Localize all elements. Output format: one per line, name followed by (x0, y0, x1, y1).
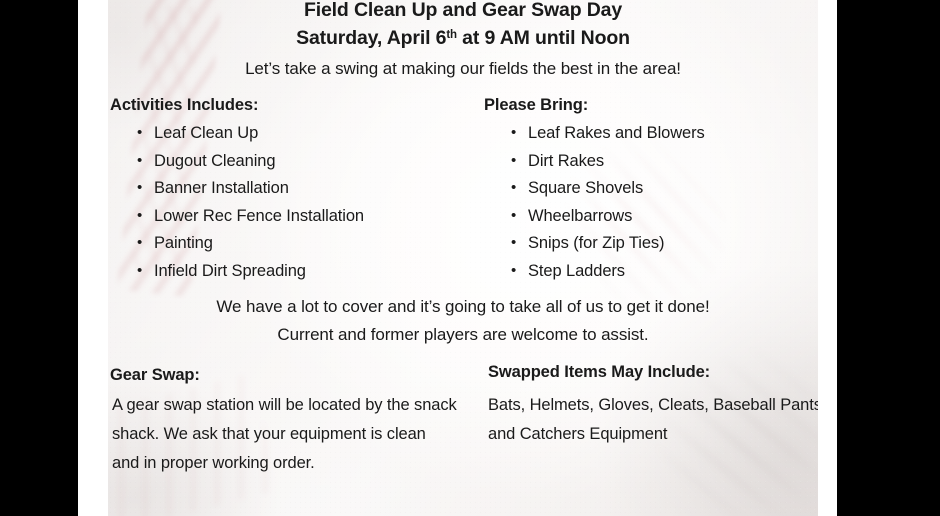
flyer-content: Field Clean Up and Gear Swap Day Saturda… (108, 0, 818, 516)
mid-note-line-2: Current and former players are welcome t… (108, 325, 818, 345)
list-item: Infield Dirt Spreading (154, 258, 364, 286)
list-item: Leaf Clean Up (154, 120, 364, 148)
list-item: Dirt Rakes (528, 148, 705, 176)
please-bring-list: Leaf Rakes and Blowers Dirt Rakes Square… (484, 120, 705, 285)
list-item: Painting (154, 230, 364, 258)
mid-note-line-1: We have a lot to cover and it’s going to… (108, 297, 818, 317)
please-bring-heading: Please Bring: (484, 96, 588, 115)
gear-swap-heading: Gear Swap: (110, 366, 200, 385)
list-item: Wheelbarrows (528, 203, 705, 231)
list-item: Snips (for Zip Ties) (528, 230, 705, 258)
gear-swap-body: A gear swap station will be located by t… (112, 391, 457, 478)
activities-list: Leaf Clean Up Dugout Cleaning Banner Ins… (110, 120, 364, 285)
date-prefix: Saturday, April 6 (296, 27, 446, 49)
swapped-items-heading: Swapped Items May Include: (488, 363, 710, 382)
list-item: Lower Rec Fence Installation (154, 203, 364, 231)
date-suffix: at 9 AM until Noon (457, 27, 630, 49)
letterbox-margin-right (818, 0, 837, 516)
list-item: Step Ladders (528, 258, 705, 286)
list-item: Dugout Cleaning (154, 148, 364, 176)
swapped-items-body: Bats, Helmets, Gloves, Cleats, Baseball … (488, 391, 818, 449)
activities-heading: Activities Includes: (110, 96, 258, 115)
list-item: Leaf Rakes and Blowers (528, 120, 705, 148)
flyer-canvas: Field Clean Up and Gear Swap Day Saturda… (108, 0, 818, 516)
list-item: Banner Installation (154, 175, 364, 203)
flyer-title: Field Clean Up and Gear Swap Day (108, 0, 818, 22)
flyer-date-time: Saturday, April 6th at 9 AM until Noon (108, 27, 818, 50)
letterbox-margin-left (78, 0, 108, 516)
date-ordinal-suffix: th (446, 29, 457, 41)
flyer-tagline: Let’s take a swing at making our fields … (108, 59, 818, 79)
list-item: Square Shovels (528, 175, 705, 203)
slide-root: Field Clean Up and Gear Swap Day Saturda… (0, 0, 940, 516)
